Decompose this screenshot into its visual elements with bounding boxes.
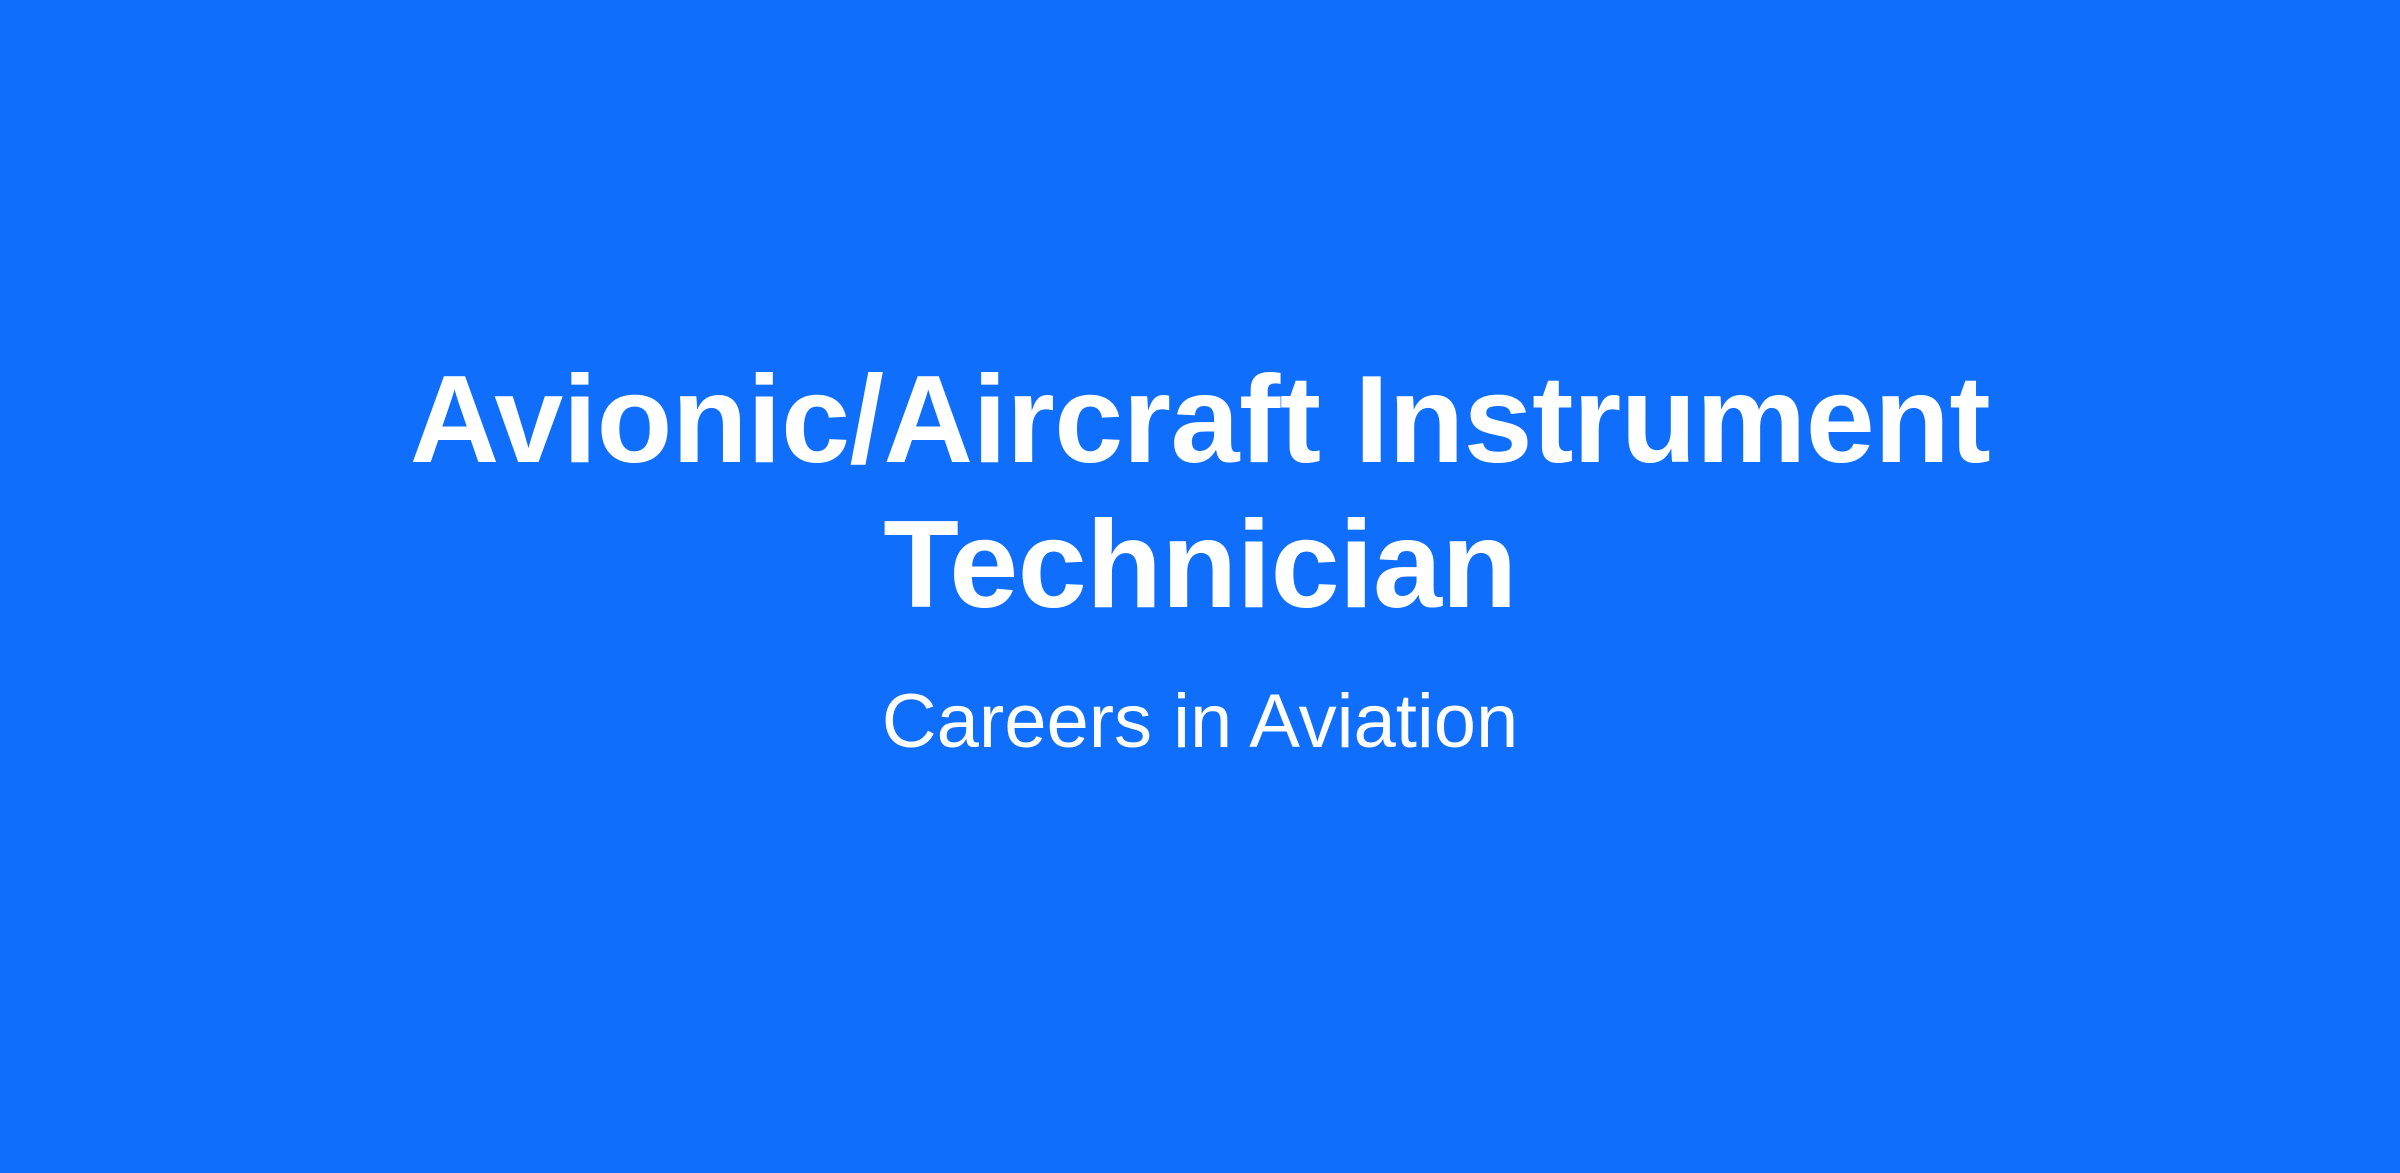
title-block: Avionic/Aircraft Instrument Technician C… [0, 348, 2400, 767]
title-slide: Avionic/Aircraft Instrument Technician C… [0, 0, 2400, 1173]
page-subtitle: Careers in Aviation [882, 638, 1519, 767]
page-title: Avionic/Aircraft Instrument Technician [400, 348, 2000, 638]
